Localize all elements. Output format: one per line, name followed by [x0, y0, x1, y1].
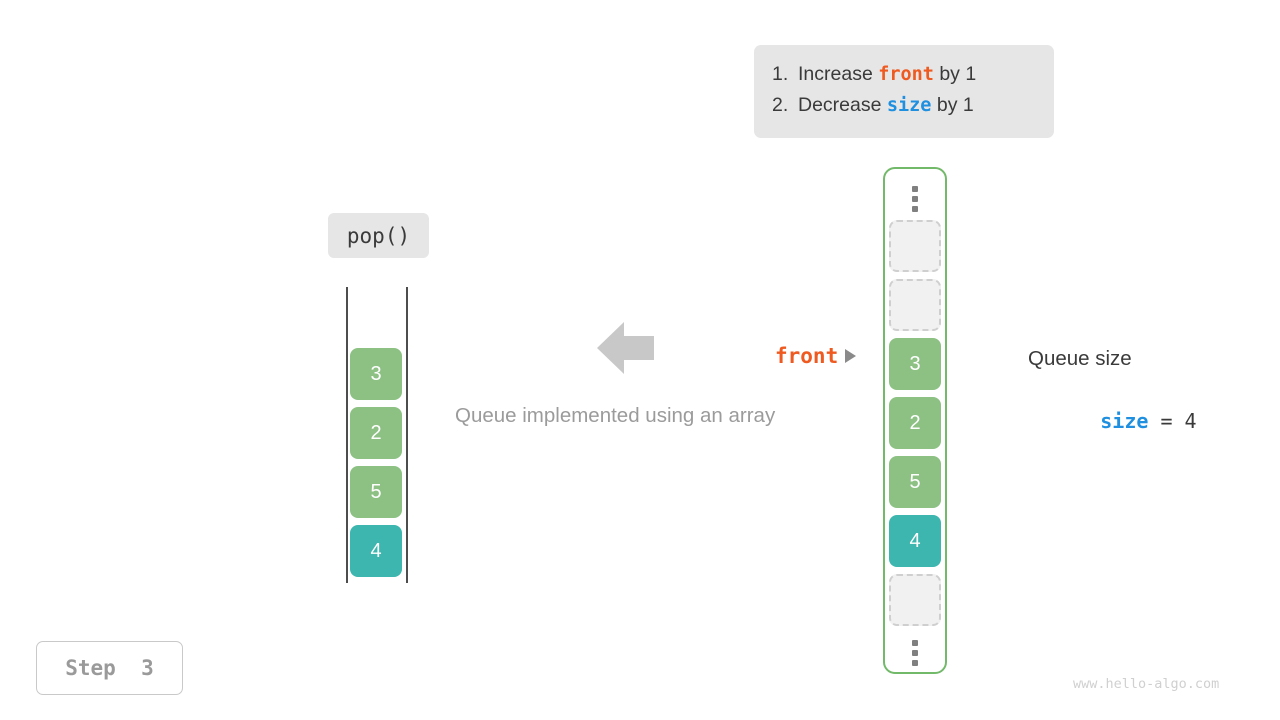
stack-cell: 3 — [350, 348, 402, 400]
stack-cell-list: 3 2 5 4 — [350, 348, 402, 577]
queue-stack-view: 3 2 5 4 — [346, 287, 408, 583]
array-container: 3 2 5 4 — [883, 167, 947, 674]
array-cell-empty — [889, 220, 941, 272]
instruction-panel: 1. Increase front by 1 2. Decrease size … — [754, 45, 1054, 138]
array-cell: 5 — [889, 456, 941, 508]
stack-rail-right — [406, 287, 408, 583]
size-operator: = — [1148, 409, 1184, 433]
instruction-keyword-front: front — [878, 59, 934, 90]
stack-rail-left — [346, 287, 348, 583]
instruction-text-pre: Decrease — [798, 90, 887, 121]
array-cell: 2 — [889, 397, 941, 449]
array-cell: 3 — [889, 338, 941, 390]
vertical-ellipsis-icon-bottom — [912, 638, 918, 668]
instruction-text-post: by 1 — [931, 90, 973, 121]
size-value: 4 — [1185, 409, 1197, 433]
instruction-item-1: 1. Increase front by 1 — [772, 59, 1034, 90]
front-pointer-label: front — [775, 344, 856, 368]
queue-size-readout: Queue size size = 4 — [1028, 344, 1218, 460]
array-cell-empty — [889, 279, 941, 331]
chevron-right-icon — [845, 349, 856, 363]
stack-cell-highlight: 4 — [350, 525, 402, 577]
size-variable-name: size — [1100, 409, 1148, 433]
queue-size-expression: size = 4 — [1028, 382, 1218, 460]
array-cell-empty — [889, 574, 941, 626]
vertical-ellipsis-icon-top — [912, 184, 918, 214]
instruction-number: 2. — [772, 90, 798, 121]
array-cell-highlight: 4 — [889, 515, 941, 567]
operation-badge-pop: pop() — [328, 213, 429, 258]
mapping-arrow-icon — [597, 320, 654, 376]
queue-size-title: Queue size — [1028, 344, 1218, 374]
instruction-text-post: by 1 — [934, 59, 976, 90]
instruction-number: 1. — [772, 59, 798, 90]
instruction-item-2: 2. Decrease size by 1 — [772, 90, 1034, 121]
diagram-caption: Queue implemented using an array — [455, 404, 775, 428]
instruction-text-pre: Increase — [798, 59, 878, 90]
diagram-canvas: 1. Increase front by 1 2. Decrease size … — [0, 0, 1280, 720]
step-badge: Step 3 — [36, 641, 183, 695]
instruction-keyword-size: size — [887, 90, 932, 121]
front-pointer-text: front — [775, 344, 838, 368]
array-cell-list: 3 2 5 4 — [889, 220, 941, 626]
stack-cell: 5 — [350, 466, 402, 518]
watermark: www.hello-algo.com — [1073, 676, 1219, 692]
stack-cell: 2 — [350, 407, 402, 459]
